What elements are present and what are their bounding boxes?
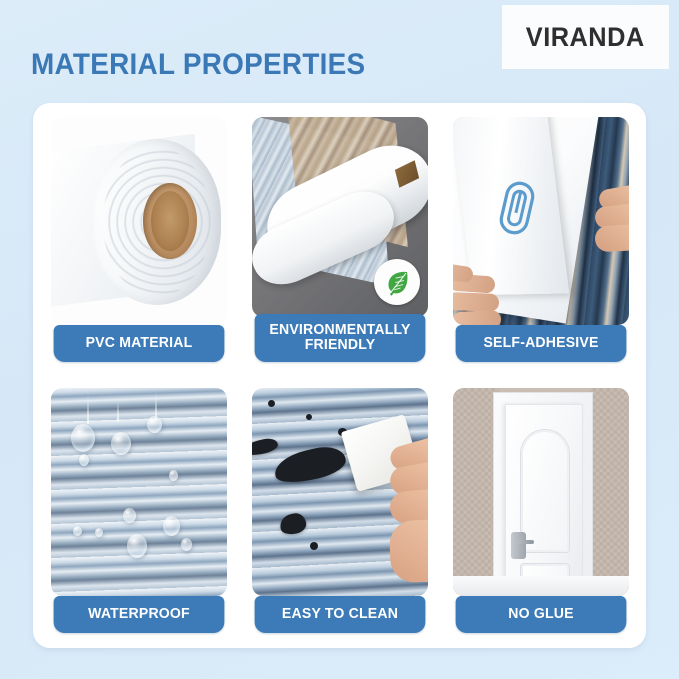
stain-dot [310, 542, 318, 550]
easy-to-clean-artwork [252, 388, 428, 596]
water-droplet [163, 516, 180, 536]
stain-smear [272, 442, 349, 487]
wall-right [589, 388, 629, 596]
peel-artwork [453, 117, 629, 325]
feature-grid: PVC MATERIAL ENVIRONME [51, 117, 629, 633]
feature-label-line-2: FRIENDLY [305, 337, 376, 353]
water-streak [117, 400, 119, 422]
waterproof-image [51, 388, 227, 596]
easy-to-clean-image [252, 388, 428, 596]
page-title: MATERIAL PROPERTIES [31, 48, 365, 82]
water-droplet [181, 538, 192, 551]
water-streak [87, 394, 89, 424]
left-hand [453, 257, 537, 325]
feature-label-environmentally-friendly: ENVIRONMENTALLY FRIENDLY [255, 314, 426, 362]
door-handle [511, 532, 526, 559]
brand-name: VIRANDA [526, 22, 645, 53]
feature-card-self-adhesive[interactable]: SELF-ADHESIVE [453, 117, 629, 362]
feature-card-environmentally-friendly[interactable]: ENVIRONMENTALLY FRIENDLY [252, 117, 428, 362]
roll-core-inner [151, 191, 189, 251]
feature-card-waterproof[interactable]: WATERPROOF [51, 388, 227, 633]
feature-label-line-1: ENVIRONMENTALLY [269, 322, 410, 338]
feature-label-waterproof: WATERPROOF [54, 596, 225, 633]
water-droplet [71, 424, 95, 452]
right-hand [563, 187, 629, 267]
pvc-roll-image [51, 117, 227, 325]
water-droplet [79, 454, 89, 466]
door-artwork [453, 388, 629, 596]
baseboard [453, 576, 629, 596]
door-leaf [505, 404, 583, 596]
feature-label-pvc-material: PVC MATERIAL [54, 325, 225, 362]
water-droplet [111, 432, 131, 455]
no-glue-image [453, 388, 629, 596]
water-droplet [147, 416, 162, 433]
water-droplet [169, 470, 178, 481]
brand-badge: VIRANDA [502, 5, 669, 69]
feature-card-pvc-material[interactable]: PVC MATERIAL [51, 117, 227, 362]
water-droplet [123, 508, 136, 523]
stain-smear [252, 436, 279, 457]
eco-artwork [252, 117, 428, 317]
feature-card-no-glue[interactable]: NO GLUE [453, 388, 629, 633]
stain-smear [278, 511, 308, 536]
water-droplet [127, 534, 147, 558]
self-adhesive-image [453, 117, 629, 325]
feature-card-easy-to-clean[interactable]: EASY TO CLEAN [252, 388, 428, 633]
door-panel-top [521, 430, 569, 552]
stain-dot [306, 414, 312, 420]
feature-label-self-adhesive: SELF-ADHESIVE [456, 325, 627, 362]
feature-label-no-glue: NO GLUE [456, 596, 627, 633]
pvc-roll-artwork [51, 117, 227, 325]
leaf-icon [374, 259, 420, 305]
stain-dot [268, 400, 275, 407]
hand-holding-cloth [354, 436, 428, 596]
eco-wallpaper-image [252, 117, 428, 317]
waterproof-artwork [51, 388, 227, 596]
water-droplet [73, 526, 82, 536]
feature-label-easy-to-clean: EASY TO CLEAN [255, 596, 426, 633]
water-droplet [95, 528, 103, 537]
door-frame [493, 392, 593, 596]
